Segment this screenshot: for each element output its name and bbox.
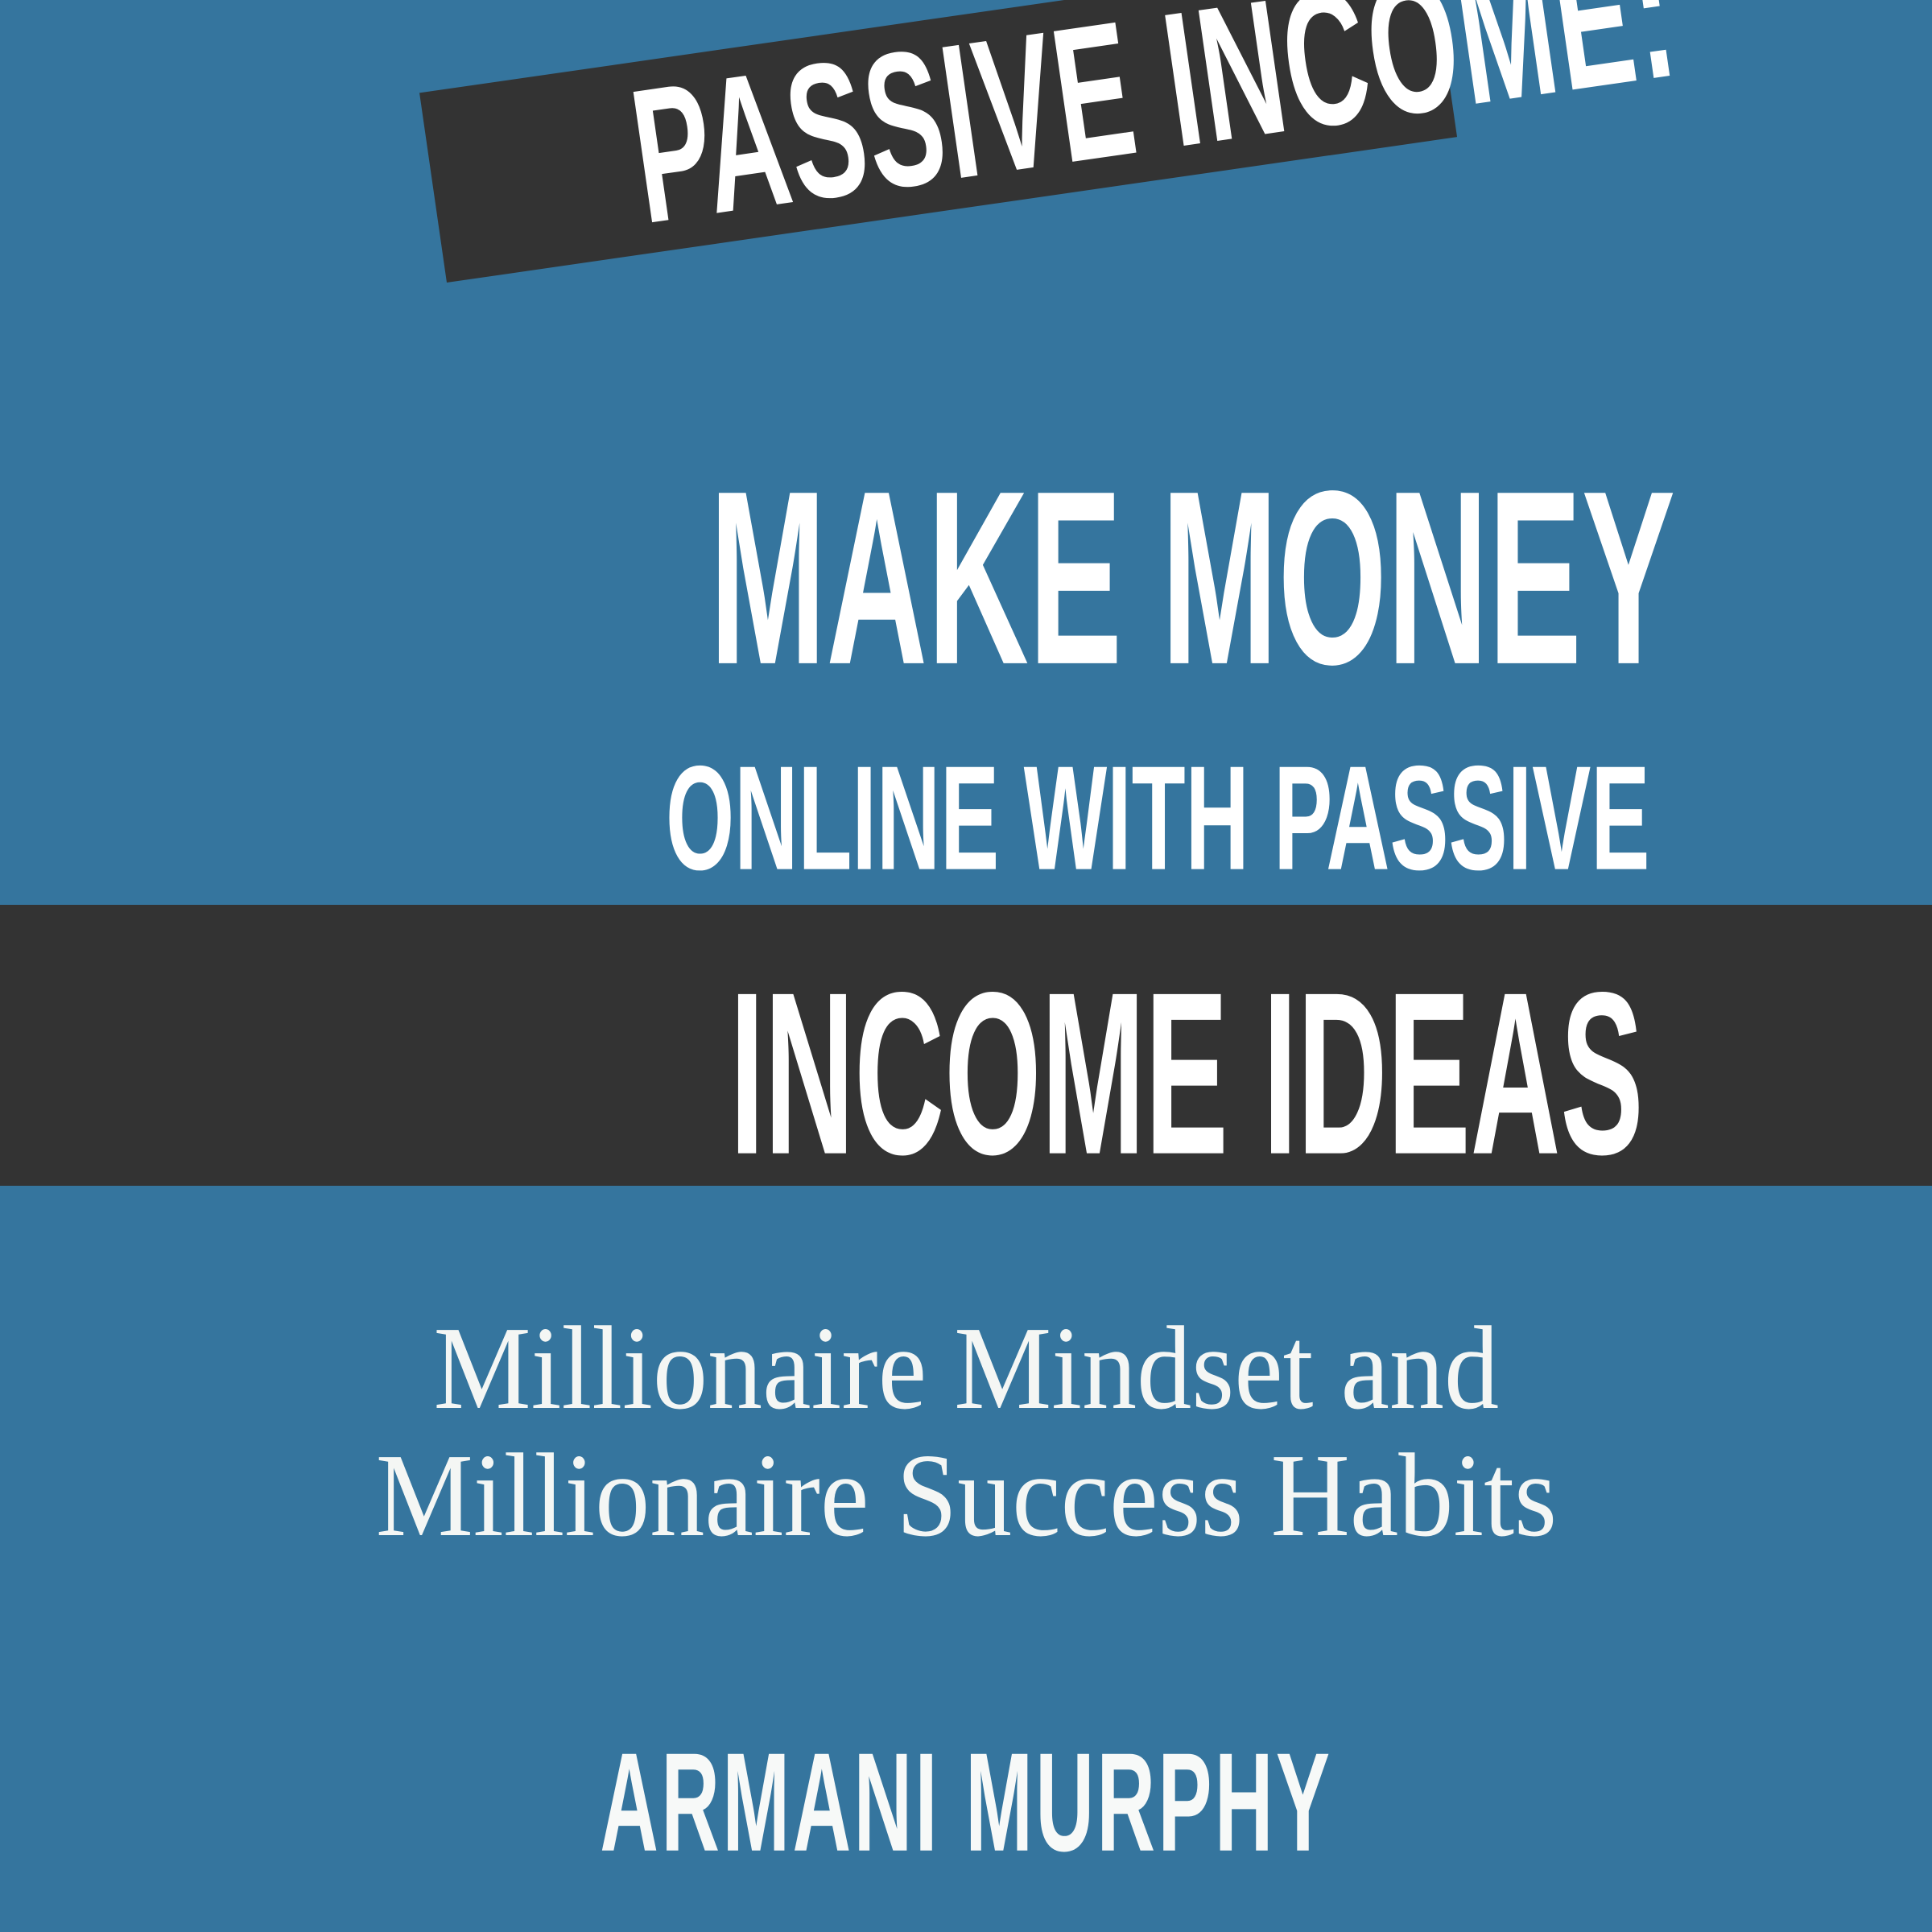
subtitle-line-2: Millionaire Success Habits [0,1436,1932,1555]
subtitle-line-2-text: Millionaire Success Habits [375,1436,1556,1555]
author-name: ARMANI MURPHY [0,1731,1932,1874]
title-line-3-text: INCOME IDEAS [730,958,1644,1189]
author-name-text: ARMANI MURPHY [600,1732,1332,1872]
book-cover: PASSIVE INCOME: MAKE MONEY ONLINE WITH P… [0,0,1932,1932]
kicker-text: PASSIVE INCOME: [625,3,1251,227]
title-line-2: ONLINE WITH PASSIVE [0,714,1932,922]
title-line-1-text: MAKE MONEY [709,454,1675,701]
subtitle-line-1: Millionaire Mindset and [0,1309,1932,1428]
subtitle-line-1-text: Millionaire Mindset and [433,1309,1499,1428]
title-line-2-text: ONLINE WITH PASSIVE [666,744,1649,892]
title-line-3: INCOME IDEAS [0,912,1932,1236]
title-line-1: MAKE MONEY [0,405,1932,751]
kicker-banner: PASSIVE INCOME: [419,0,1457,283]
